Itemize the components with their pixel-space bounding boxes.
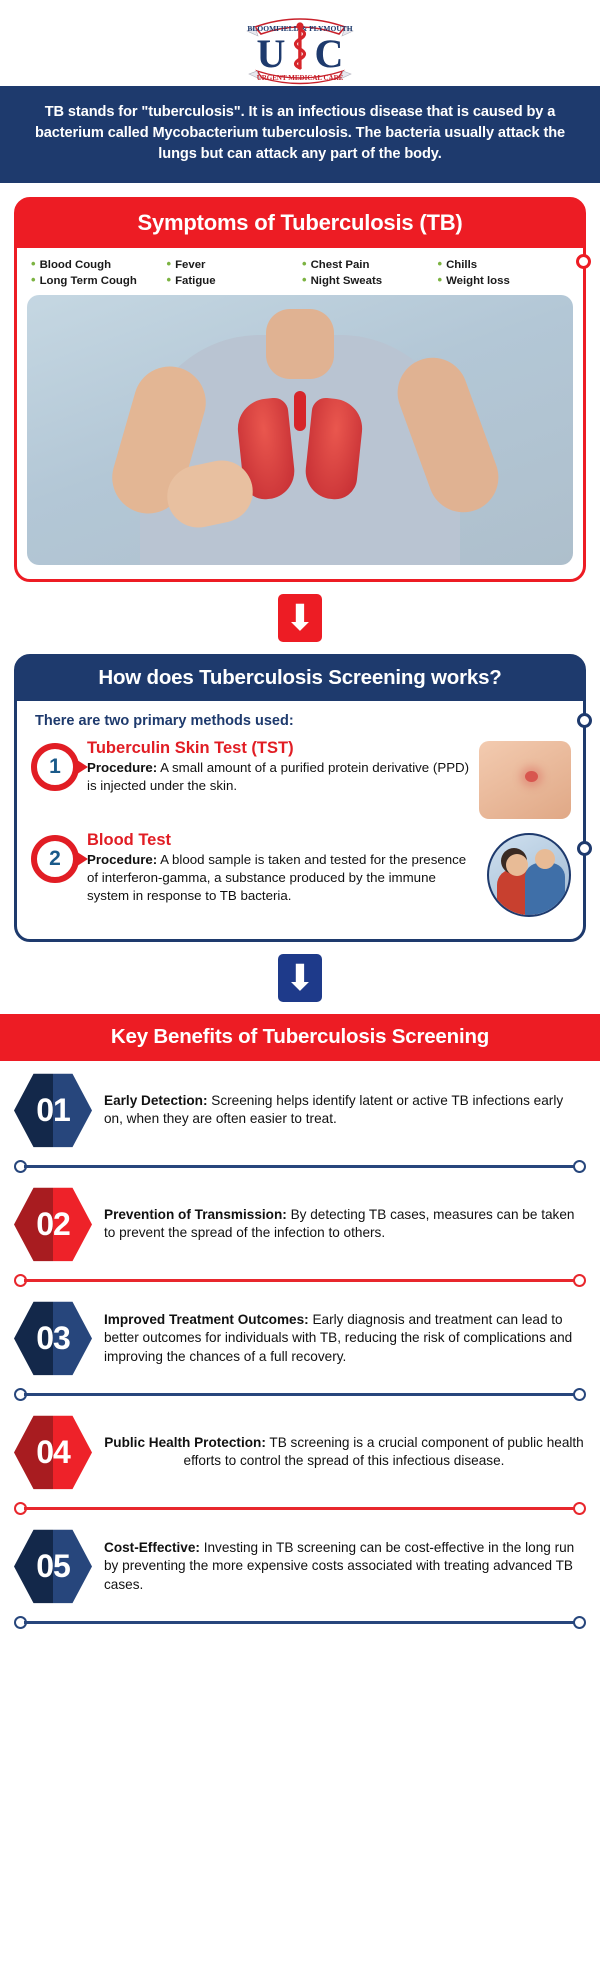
- divider-line: [24, 1621, 576, 1624]
- arrow-glyph: ⬇: [278, 594, 322, 642]
- benefit-label: Public Health Protection:: [104, 1435, 266, 1450]
- symptoms-card: Symptoms of Tuberculosis (TB) • Blood Co…: [14, 197, 586, 582]
- bullet-icon: •: [438, 273, 443, 286]
- hexagon-icon: 01: [14, 1071, 92, 1149]
- divider-cap-right: [573, 1160, 586, 1173]
- hexagon-icon: 03: [14, 1299, 92, 1377]
- divider-line: [24, 1165, 576, 1168]
- hexagon-icon: 02: [14, 1185, 92, 1263]
- list-item: • Chills: [438, 257, 570, 271]
- bullet-icon: •: [302, 257, 307, 270]
- method-heading: Blood Test: [87, 831, 479, 850]
- symptoms-section: Symptoms of Tuberculosis (TB) • Blood Co…: [0, 197, 600, 582]
- benefit-label: Prevention of Transmission:: [104, 1207, 287, 1222]
- divider-line: [24, 1507, 576, 1510]
- list-item: • Blood Cough: [31, 257, 163, 271]
- benefit-number: 05: [36, 1548, 70, 1585]
- symptoms-title: Symptoms of Tuberculosis (TB): [16, 199, 584, 248]
- benefit-item-05: 05 Cost-Effective: Investing in TB scree…: [0, 1517, 600, 1611]
- svg-text:U: U: [257, 31, 286, 76]
- infographic-page: BLOOMFIELD & PLYMOUTH U C URGENT MEDICAL…: [0, 0, 600, 1980]
- list-item: • Night Sweats: [302, 273, 434, 287]
- brand-logo: BLOOMFIELD & PLYMOUTH U C URGENT MEDICAL…: [0, 0, 600, 86]
- badge-pointer-icon: [74, 850, 88, 868]
- benefit-badge: 05: [14, 1527, 92, 1605]
- method-text: Tuberculin Skin Test (TST) Procedure: A …: [87, 739, 471, 794]
- svg-text:URGENT MEDICAL CARE: URGENT MEDICAL CARE: [257, 74, 344, 82]
- benefit-text: Cost-Effective: Investing in TB screenin…: [104, 1539, 584, 1594]
- method-number-badge: 1: [31, 743, 79, 791]
- symptom-label: Blood Cough: [40, 259, 112, 271]
- hexagon-icon: 04: [14, 1413, 92, 1491]
- decorative-dot-screening-top: [577, 713, 592, 728]
- benefit-number: 01: [36, 1092, 70, 1129]
- down-arrow-icon: ⬇: [278, 594, 322, 642]
- list-item: • Fatigue: [167, 273, 299, 287]
- bullet-icon: •: [438, 257, 443, 270]
- benefit-number: 02: [36, 1206, 70, 1243]
- divider-cap-right: [573, 1502, 586, 1515]
- benefit-badge: 02: [14, 1185, 92, 1263]
- bullet-icon: •: [167, 257, 172, 270]
- benefit-text: Improved Treatment Outcomes: Early diagn…: [104, 1311, 584, 1366]
- divider: [10, 1501, 590, 1515]
- method-photo-blood-test: [487, 833, 571, 917]
- divider-cap-right: [573, 1388, 586, 1401]
- divider-cap-right: [573, 1274, 586, 1287]
- benefit-text: Early Detection: Screening helps identif…: [104, 1092, 584, 1129]
- bullet-icon: •: [31, 273, 36, 286]
- method-number-badge: 2: [31, 835, 79, 883]
- method-body-label: Procedure:: [87, 760, 157, 775]
- screening-intro: There are two primary methods used:: [17, 701, 583, 735]
- caduceus-logo-icon: BLOOMFIELD & PLYMOUTH U C URGENT MEDICAL…: [225, 5, 375, 85]
- benefit-label: Early Detection:: [104, 1093, 208, 1108]
- benefit-text: Prevention of Transmission: By detecting…: [104, 1206, 584, 1243]
- divider: [10, 1387, 590, 1401]
- symptom-label: Long Term Cough: [40, 275, 137, 287]
- benefit-text: Public Health Protection: TB screening i…: [104, 1434, 584, 1471]
- list-item: • Fever: [167, 257, 299, 271]
- benefit-number: 04: [36, 1434, 70, 1471]
- badge-pointer-icon: [74, 758, 88, 776]
- down-arrow-icon: ⬇: [278, 954, 322, 1002]
- divider-line: [24, 1279, 576, 1282]
- benefit-label: Cost-Effective:: [104, 1540, 200, 1555]
- divider: [10, 1273, 590, 1287]
- logo-mark: BLOOMFIELD & PLYMOUTH U C URGENT MEDICAL…: [225, 5, 375, 85]
- flow-arrow-1-zone: ⬇: [0, 582, 600, 654]
- method-body-label: Procedure:: [87, 852, 157, 867]
- benefit-badge: 01: [14, 1071, 92, 1149]
- divider: [10, 1159, 590, 1173]
- symptom-label: Fatigue: [175, 275, 216, 287]
- method-photo-skin-test: [479, 741, 571, 819]
- photo-trachea: [294, 391, 306, 431]
- symptom-label: Chest Pain: [311, 259, 370, 271]
- benefit-item-03: 03 Improved Treatment Outcomes: Early di…: [0, 1289, 600, 1383]
- benefit-badge: 04: [14, 1413, 92, 1491]
- symptoms-photo: [27, 295, 573, 565]
- screening-method-2: 2 Blood Test Procedure: A blood sample i…: [17, 827, 583, 925]
- method-heading: Tuberculin Skin Test (TST): [87, 739, 471, 758]
- list-item: • Chest Pain: [302, 257, 434, 271]
- photo-lung-right: [303, 397, 365, 502]
- method-body: Procedure: A blood sample is taken and t…: [87, 851, 479, 904]
- symptom-label: Weight loss: [446, 275, 510, 287]
- method-text: Blood Test Procedure: A blood sample is …: [87, 831, 479, 904]
- photo-lab-person-2: [525, 863, 565, 915]
- method-body: Procedure: A small amount of a purified …: [87, 759, 471, 794]
- list-item: • Weight loss: [438, 273, 570, 287]
- bullet-icon: •: [31, 257, 36, 270]
- intro-banner: TB stands for "tuberculosis". It is an i…: [0, 86, 600, 183]
- hexagon-icon: 05: [14, 1527, 92, 1605]
- svg-text:C: C: [315, 31, 344, 76]
- list-item: • Long Term Cough: [31, 273, 163, 287]
- divider-line: [24, 1393, 576, 1396]
- benefit-item-02: 02 Prevention of Transmission: By detect…: [0, 1175, 600, 1269]
- screening-method-1: 1 Tuberculin Skin Test (TST) Procedure: …: [17, 735, 583, 827]
- method-number: 1: [31, 743, 79, 791]
- symptom-label: Chills: [446, 259, 477, 271]
- symptom-label: Night Sweats: [311, 275, 383, 287]
- symptom-label: Fever: [175, 259, 205, 271]
- photo-lungs-overlay: [240, 391, 360, 503]
- benefits-title: Key Benefits of Tuberculosis Screening: [0, 1014, 600, 1061]
- decorative-dot-right: [576, 254, 591, 269]
- benefit-badge: 03: [14, 1299, 92, 1377]
- symptoms-list: • Blood Cough • Fever • Chest Pain • Chi…: [17, 248, 583, 295]
- benefit-number: 03: [36, 1320, 70, 1357]
- method-number: 2: [31, 835, 79, 883]
- photo-figure-neck: [266, 309, 334, 379]
- bullet-icon: •: [167, 273, 172, 286]
- benefit-label: Improved Treatment Outcomes:: [104, 1312, 309, 1327]
- screening-title: How does Tuberculosis Screening works?: [16, 656, 584, 701]
- screening-card: How does Tuberculosis Screening works? T…: [14, 654, 586, 942]
- benefit-item-01: 01 Early Detection: Screening helps iden…: [0, 1061, 600, 1155]
- bullet-icon: •: [302, 273, 307, 286]
- divider-cap-right: [573, 1616, 586, 1629]
- decorative-dot-screening-bottom: [577, 841, 592, 856]
- divider: [10, 1615, 590, 1629]
- arrow-glyph: ⬇: [278, 954, 322, 1002]
- flow-arrow-2-zone: ⬇: [0, 942, 600, 1014]
- benefit-item-04: 04 Public Health Protection: TB screenin…: [0, 1403, 600, 1497]
